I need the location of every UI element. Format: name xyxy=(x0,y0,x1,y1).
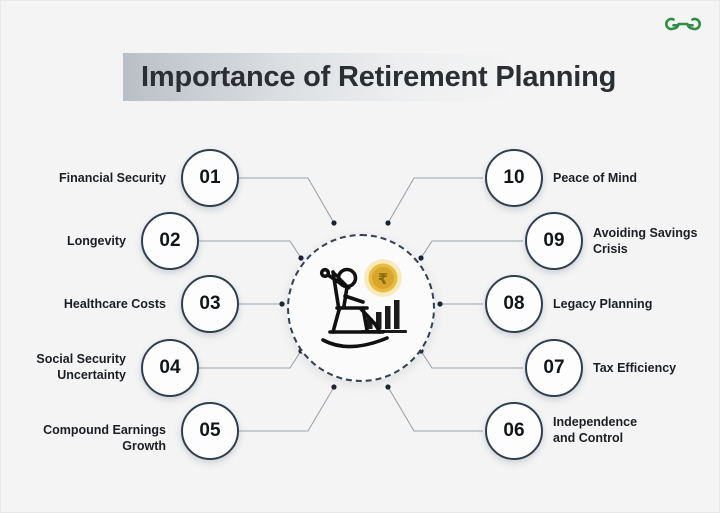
node-number: 06 xyxy=(503,420,524,442)
label-avoiding-savings-crisis: Avoiding Savings Crisis xyxy=(593,225,718,257)
node-02[interactable]: 02 xyxy=(141,212,199,270)
center-illustration: ₹ xyxy=(287,234,435,382)
label-compound-earnings-growth: Compound Earnings Growth xyxy=(6,422,166,454)
label-independence-and-control: Independence and Control xyxy=(553,414,713,446)
label-tax-efficiency: Tax Efficiency xyxy=(593,360,718,376)
node-08[interactable]: 08 xyxy=(485,275,543,333)
node-09[interactable]: 09 xyxy=(525,212,583,270)
label-peace-of-mind: Peace of Mind xyxy=(553,170,713,186)
node-07[interactable]: 07 xyxy=(525,339,583,397)
label-financial-security: Financial Security xyxy=(11,170,166,186)
svg-text:₹: ₹ xyxy=(378,270,388,288)
node-number: 08 xyxy=(503,293,524,315)
node-number: 03 xyxy=(199,293,220,315)
label-healthcare-costs: Healthcare Costs xyxy=(11,296,166,312)
node-number: 09 xyxy=(543,230,564,252)
node-06[interactable]: 06 xyxy=(485,402,543,460)
node-number: 02 xyxy=(159,230,180,252)
label-social-security-uncertainty: Social Security Uncertainty xyxy=(6,351,126,383)
node-number: 05 xyxy=(199,420,220,442)
node-10[interactable]: 10 xyxy=(485,149,543,207)
label-legacy-planning: Legacy Planning xyxy=(553,296,713,312)
infographic-canvas: Importance of Retirement Planning xyxy=(0,0,720,513)
node-05[interactable]: 05 xyxy=(181,402,239,460)
rupee-coin-icon: ₹ xyxy=(364,259,402,297)
node-number: 01 xyxy=(199,167,220,189)
node-number: 07 xyxy=(543,357,564,379)
node-03[interactable]: 03 xyxy=(181,275,239,333)
node-number: 10 xyxy=(503,167,524,189)
label-longevity: Longevity xyxy=(11,233,126,249)
node-01[interactable]: 01 xyxy=(181,149,239,207)
node-04[interactable]: 04 xyxy=(141,339,199,397)
node-number: 04 xyxy=(159,357,180,379)
